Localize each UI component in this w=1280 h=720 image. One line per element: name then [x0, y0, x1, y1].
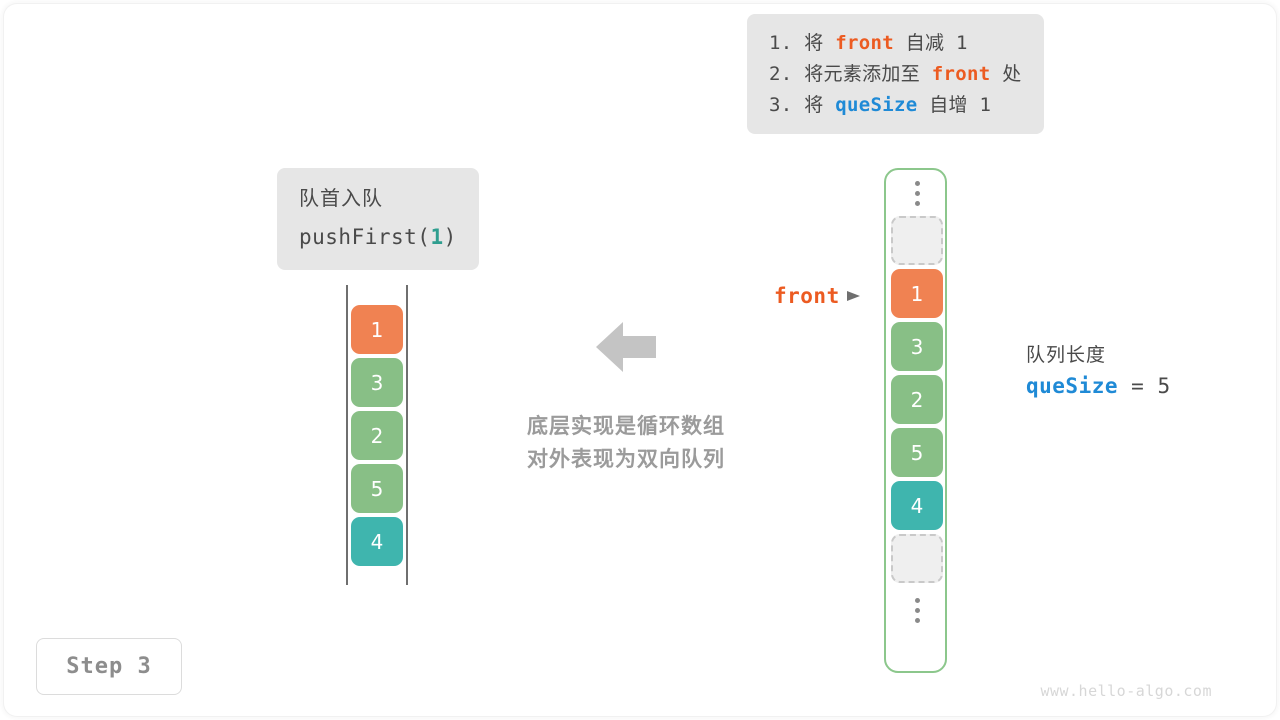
keyword-front: front: [932, 63, 991, 85]
array-slot-cell: 3: [891, 322, 943, 371]
array-slot-cell: 1: [891, 269, 943, 318]
caption-line-1: 底层实现是循环数组: [478, 410, 774, 443]
vertical-ellipsis-icon: [891, 170, 944, 216]
array-slot-cell: 5: [891, 428, 943, 477]
keyword-quesize: queSize: [1026, 374, 1118, 398]
call-prefix: pushFirst(: [299, 225, 430, 249]
deque-rail-right: [406, 285, 408, 585]
queue-size-value: queSize = 5: [1026, 374, 1171, 398]
circular-array-slot-list: 13254: [891, 170, 944, 671]
watermark: www.hello-algo.com: [1040, 682, 1212, 700]
operation-title: 队首入队: [299, 182, 457, 214]
front-pointer-label: front: [774, 284, 840, 308]
ellipsis-dot: [915, 598, 920, 603]
deque-cell-list: 13254: [351, 305, 403, 570]
operation-step-line: 1. 将 front 自减 1: [769, 28, 1022, 59]
left-arrow-icon: [596, 321, 656, 373]
queue-size-note: 队列长度 queSize = 5: [1026, 340, 1171, 398]
deque-cell: 5: [351, 464, 403, 513]
deque-cell: 1: [351, 305, 403, 354]
operation-step-line: 3. 将 queSize 自增 1: [769, 90, 1022, 121]
watermark-text: www.hello-algo.com: [1040, 682, 1212, 700]
array-slot-empty: [891, 534, 943, 583]
operation-step-prefix: 3. 将: [769, 94, 835, 116]
queue-size-title: 队列长度: [1026, 340, 1171, 367]
operation-step-line: 2. 将元素添加至 front 处: [769, 59, 1022, 90]
operation-step-suffix: 处: [990, 63, 1021, 85]
operation-step-suffix: 自减 1: [894, 32, 968, 54]
ellipsis-dot: [915, 618, 920, 623]
keyword-front: front: [835, 32, 894, 54]
operation-step-suffix: 自增 1: [917, 94, 991, 116]
operation-steps-note: 1. 将 front 自减 1 2. 将元素添加至 front 处 3. 将 q…: [747, 14, 1044, 134]
diagram-caption: 底层实现是循环数组 对外表现为双向队列: [478, 410, 774, 475]
ellipsis-dot: [915, 201, 920, 206]
operation-step-prefix: 2. 将元素添加至: [769, 63, 932, 85]
circular-array-view: 13254: [884, 168, 947, 673]
array-slot-cell: 2: [891, 375, 943, 424]
diagram-canvas: 1. 将 front 自减 1 2. 将元素添加至 front 处 3. 将 q…: [0, 0, 1280, 720]
ellipsis-dot: [915, 181, 920, 186]
deque-cell: 3: [351, 358, 403, 407]
call-suffix: ): [444, 225, 457, 249]
caption-line-2: 对外表现为双向队列: [478, 443, 774, 476]
pointer-arrow-icon: [847, 287, 861, 306]
queue-size-assignment: = 5: [1118, 374, 1171, 398]
operation-call: pushFirst(1): [299, 220, 457, 254]
operation-step-prefix: 1. 将: [769, 32, 835, 54]
ellipsis-dot: [915, 191, 920, 196]
keyword-quesize: queSize: [835, 94, 917, 116]
array-slot-cell: 4: [891, 481, 943, 530]
deque-rail-left: [346, 285, 348, 585]
deque-cell: 2: [351, 411, 403, 460]
deque-cell: 4: [351, 517, 403, 566]
vertical-ellipsis-icon: [891, 587, 944, 633]
front-pointer: front: [774, 284, 861, 308]
ellipsis-dot: [915, 608, 920, 613]
call-argument: 1: [430, 225, 443, 249]
step-badge-label: Step 3: [66, 654, 151, 679]
deque-abstract-view: 13254: [346, 285, 408, 585]
step-badge: Step 3: [36, 638, 182, 695]
array-slot-empty: [891, 216, 943, 265]
operation-label-box: 队首入队 pushFirst(1): [277, 168, 479, 270]
